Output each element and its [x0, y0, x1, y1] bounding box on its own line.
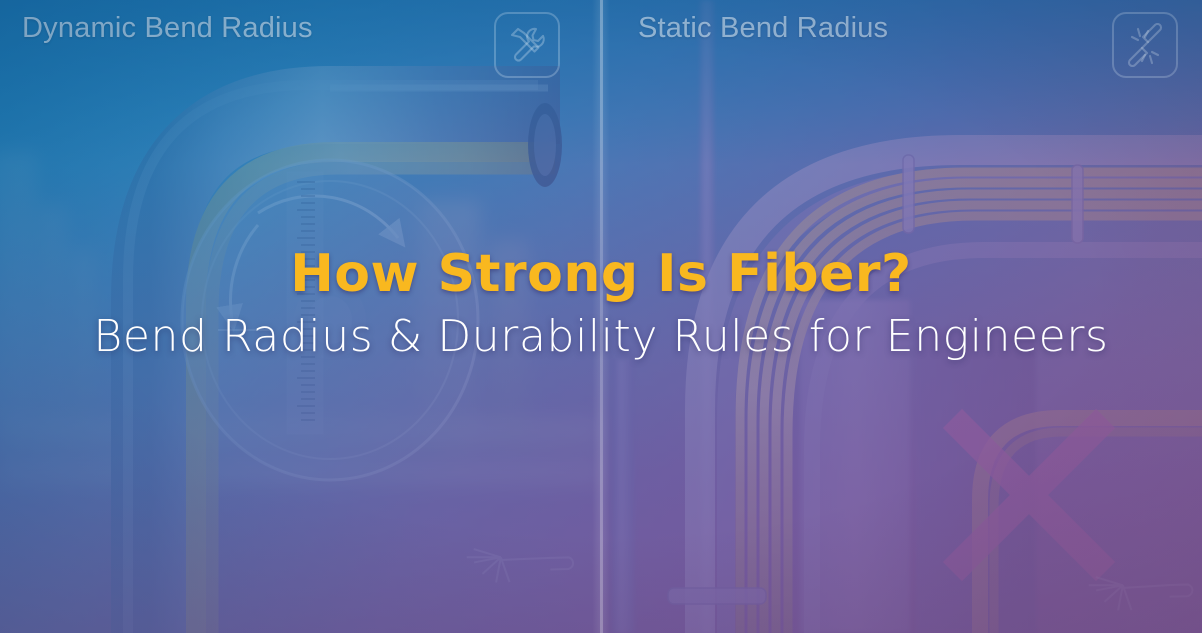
hero-banner: Dynamic Bend Radius Static Bend Radius H…	[0, 0, 1202, 633]
cable-break-icon	[1112, 12, 1178, 78]
panel-label-static: Static Bend Radius	[638, 12, 888, 45]
page-subtitle: Bend Radius & Durability Rules for Engin…	[0, 314, 1202, 360]
headline-block: How Strong Is Fiber? Bend Radius & Durab…	[0, 248, 1202, 360]
page-title: How Strong Is Fiber?	[0, 248, 1202, 300]
panel-label-dynamic: Dynamic Bend Radius	[22, 12, 313, 45]
wrench-screwdriver-icon	[494, 12, 560, 78]
